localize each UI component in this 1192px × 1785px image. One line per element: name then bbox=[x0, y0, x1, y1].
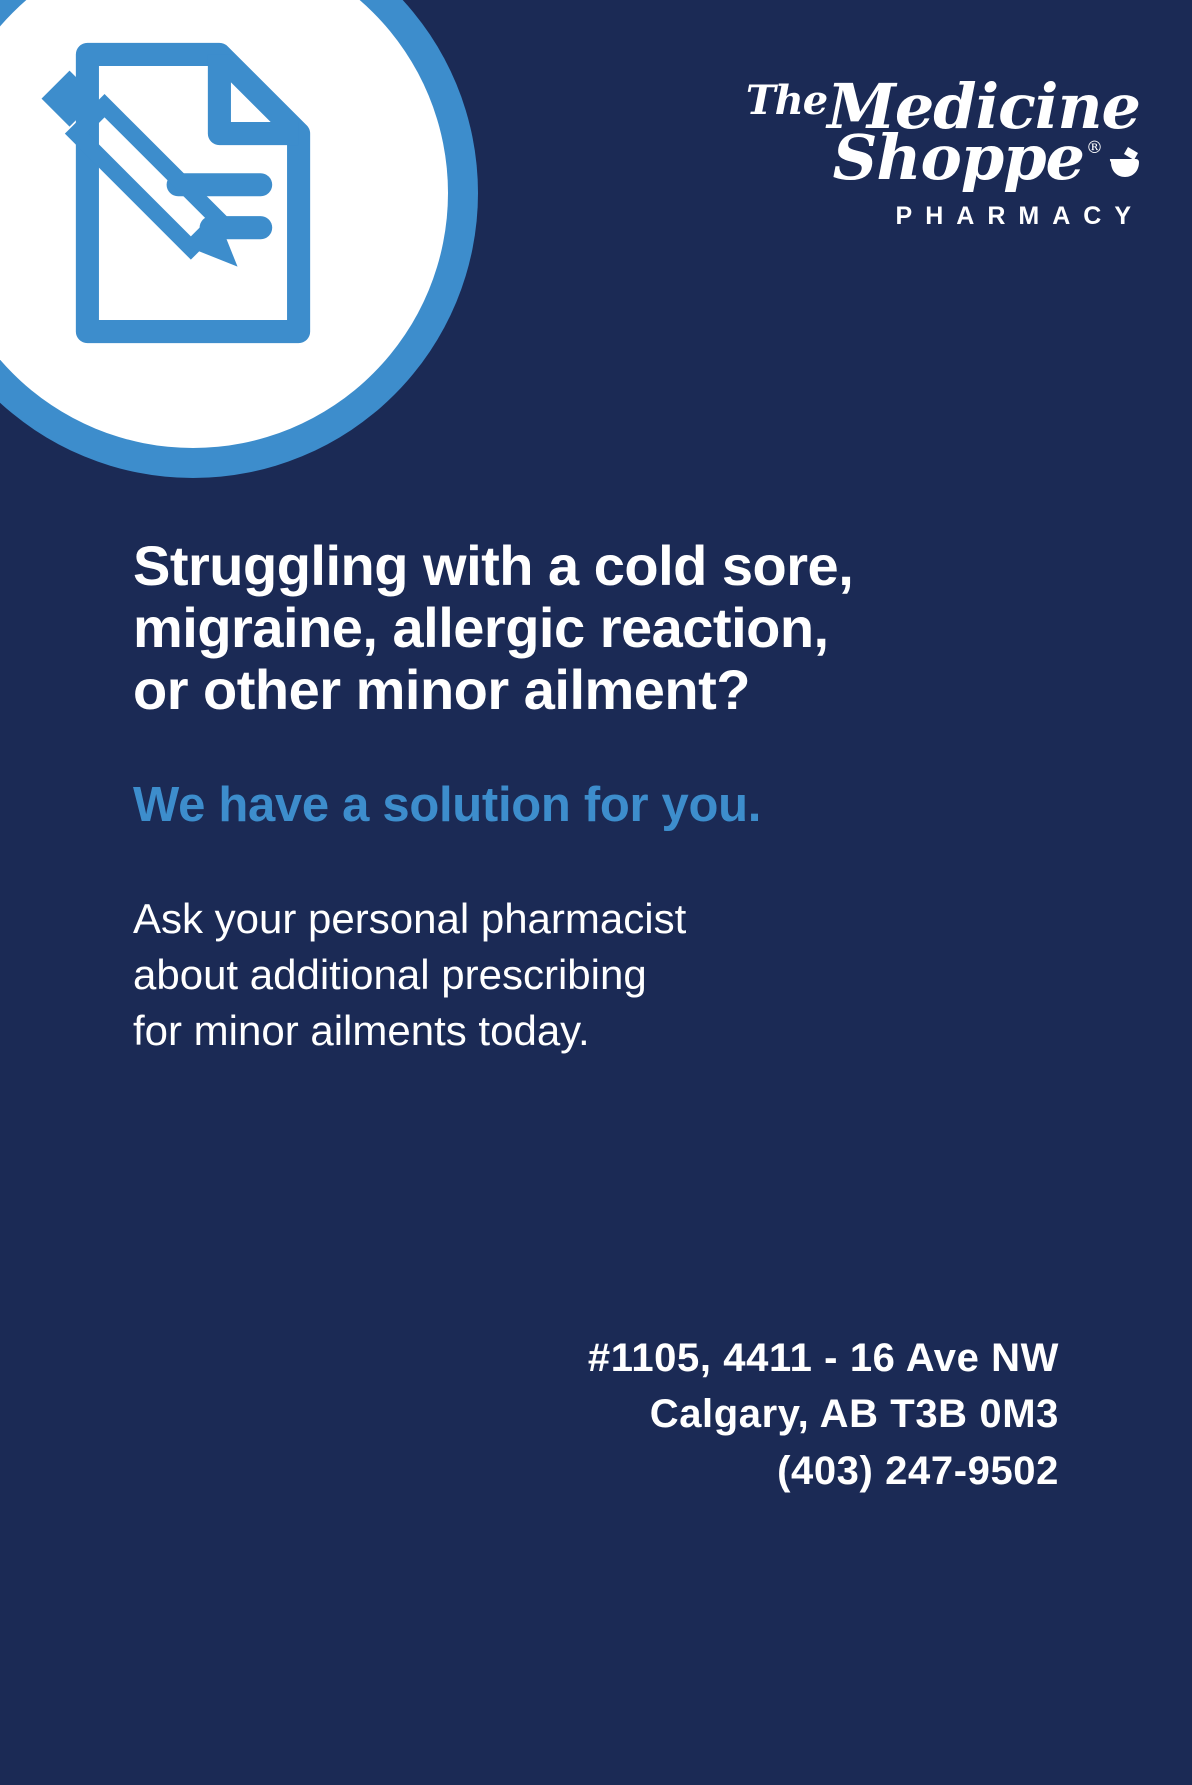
badge-circle bbox=[0, 0, 478, 478]
phone-number[interactable]: (403) 247-9502 bbox=[588, 1443, 1059, 1500]
document-with-pencil-icon bbox=[28, 28, 358, 358]
logo-tagline: PHARMACY bbox=[744, 202, 1144, 231]
subheadline: We have a solution for you. bbox=[133, 721, 1059, 833]
logo-line-shoppe: Shoppe® bbox=[744, 129, 1144, 186]
mortar-and-pestle-icon bbox=[1104, 133, 1144, 173]
logo-shoppe: Shoppe bbox=[833, 121, 1084, 194]
main-content: Struggling with a cold sore, migraine, a… bbox=[133, 535, 1059, 1059]
address-street: #1105, 4411 - 16 Ave NW bbox=[588, 1330, 1059, 1387]
brand-logo: TheMedicine Shoppe® PHARMACY bbox=[744, 78, 1144, 231]
body-copy: Ask your personal pharmacist about addit… bbox=[133, 833, 1059, 1059]
contact-block: #1105, 4411 - 16 Ave NW Calgary, AB T3B … bbox=[588, 1330, 1059, 1500]
page-title: Struggling with a cold sore, migraine, a… bbox=[133, 535, 1059, 721]
poster-canvas: TheMedicine Shoppe® PHARMACY Struggling … bbox=[0, 0, 1192, 1785]
logo-the: The bbox=[746, 77, 827, 124]
address-city: Calgary, AB T3B 0M3 bbox=[588, 1386, 1059, 1443]
registered-trademark-icon: ® bbox=[1086, 138, 1102, 158]
